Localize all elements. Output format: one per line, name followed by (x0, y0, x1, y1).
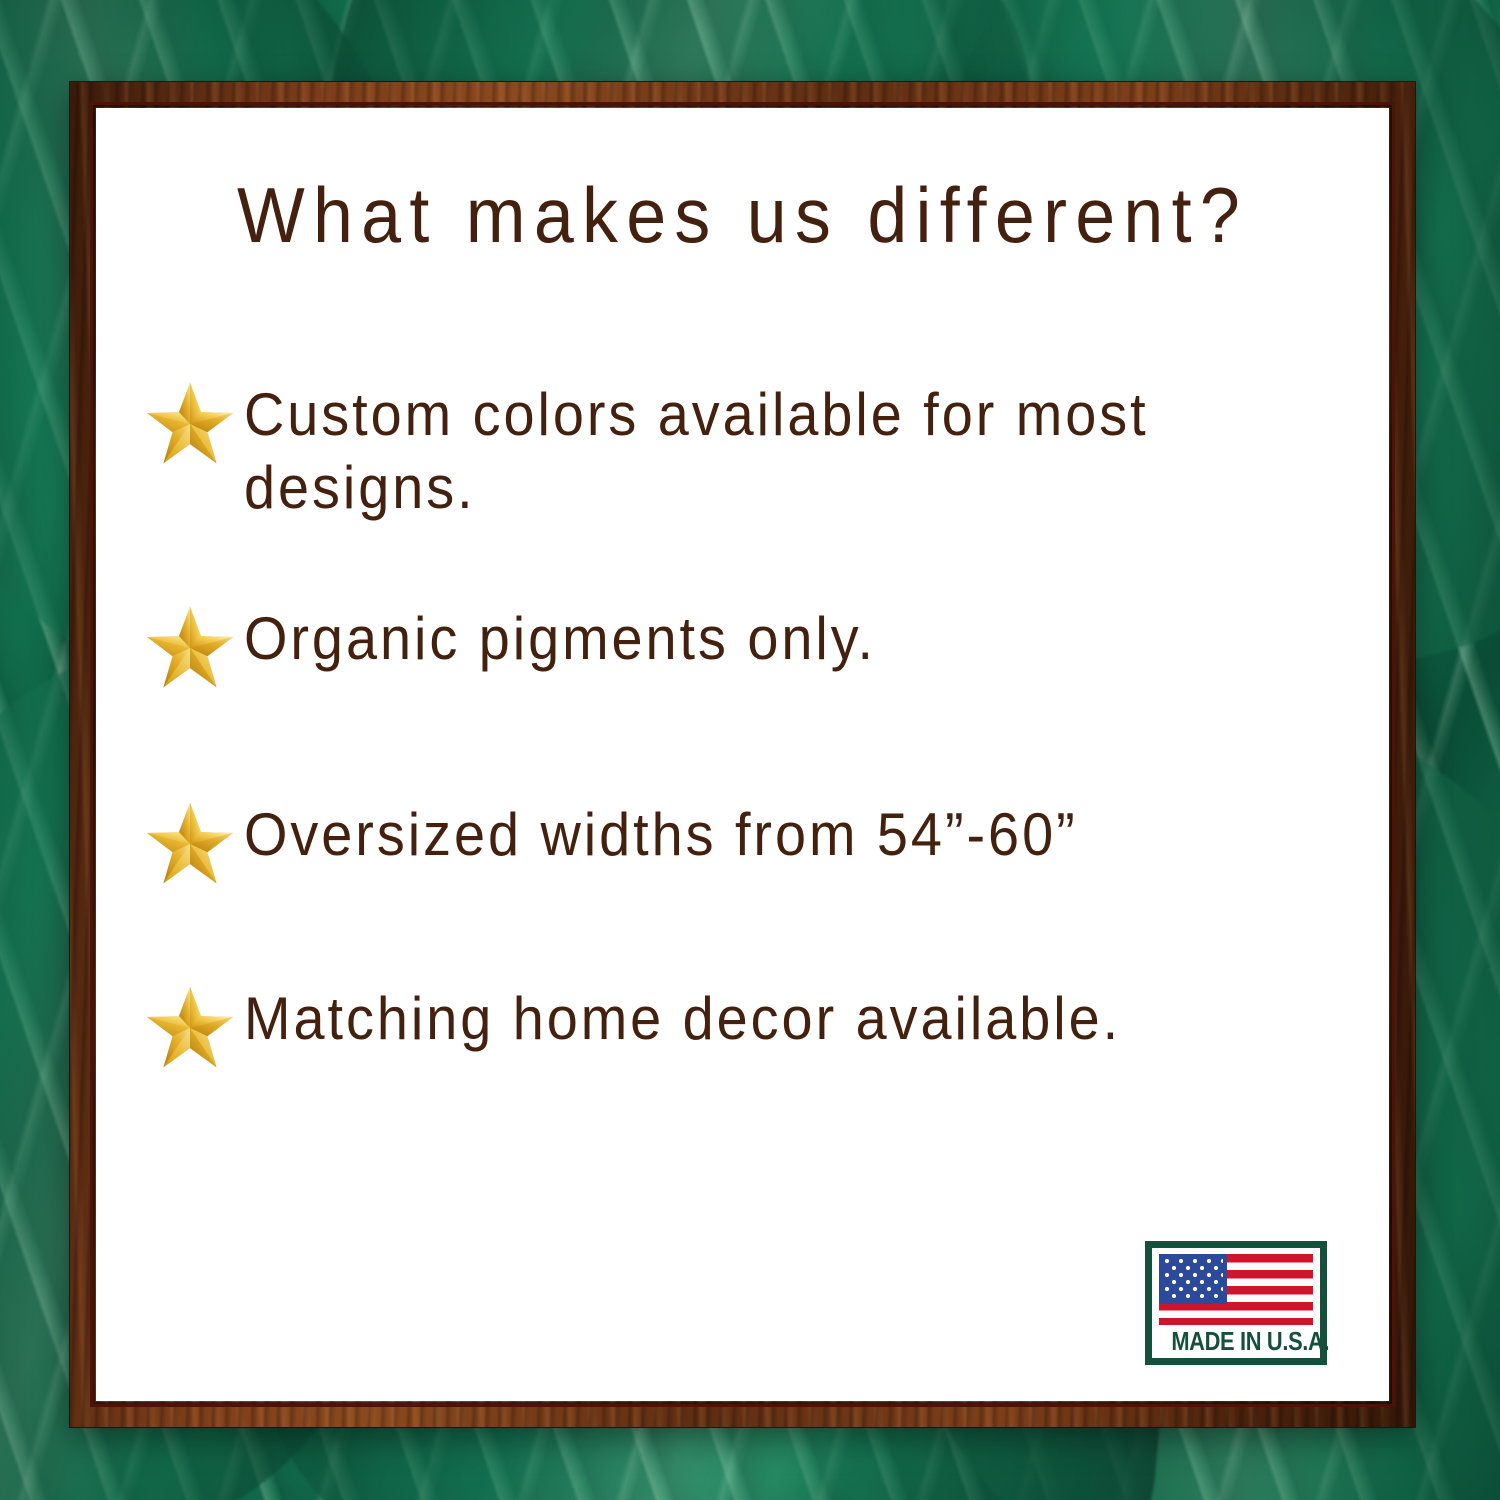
list-item: Oversized widths from 54”-60” (144, 796, 1349, 888)
list-item-label: Custom colors available for most designs… (244, 376, 1272, 524)
gold-star-icon (144, 800, 236, 888)
wooden-frame: What makes us different? (70, 82, 1415, 1427)
gold-star-icon (144, 604, 236, 692)
list-item-label: Organic pigments only. (244, 600, 876, 675)
made-in-usa-label: MADE IN U.S.A. (1171, 1328, 1300, 1354)
feature-list: Custom colors available for most designs… (144, 376, 1349, 1072)
list-item: Matching home decor available. (144, 980, 1349, 1072)
flag-stars (1164, 1258, 1223, 1300)
flag-canton (1159, 1254, 1227, 1304)
list-item: Organic pigments only. (144, 600, 1349, 692)
gold-star-icon (144, 984, 236, 1072)
list-item-label: Oversized widths from 54”-60” (244, 796, 1078, 871)
list-item: Custom colors available for most designs… (144, 376, 1349, 524)
us-flag-icon (1159, 1254, 1313, 1325)
poster-canvas: What makes us different? (0, 0, 1500, 1500)
list-item-label: Matching home decor available. (244, 980, 1121, 1055)
gold-star-icon (144, 380, 236, 468)
page-title: What makes us different? (148, 170, 1338, 261)
white-card: What makes us different? (96, 108, 1389, 1401)
made-in-usa-badge: MADE IN U.S.A. (1145, 1241, 1327, 1365)
